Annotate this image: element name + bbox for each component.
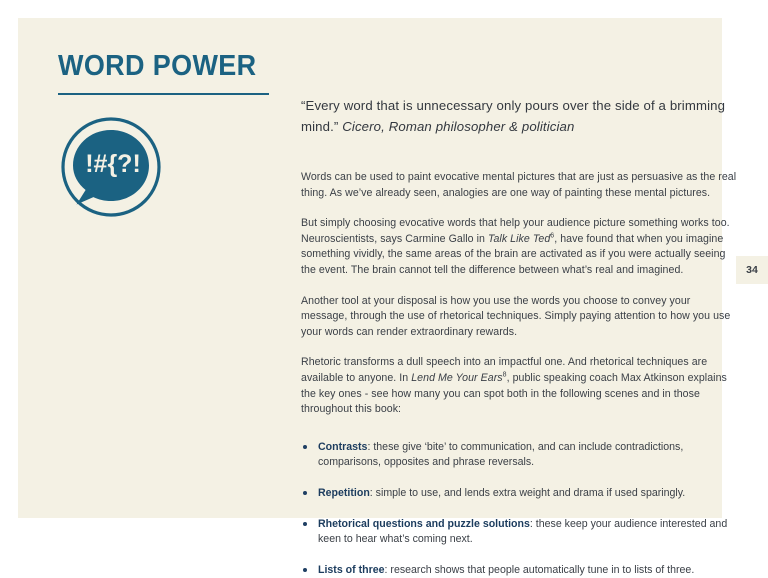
title-divider — [58, 93, 269, 95]
bullet-icon — [303, 568, 307, 572]
pull-quote-attribution: Cicero, Roman philosopher & politician — [342, 119, 574, 134]
bullet-icon — [303, 445, 307, 449]
technique-term: Rhetorical questions and puzzle solution… — [318, 518, 530, 530]
page-sheet: WORD POWER !#{?! “Every word that is unn… — [18, 18, 722, 518]
pull-quote: “Every word that is unnecessary only pou… — [301, 95, 738, 137]
bullet-icon — [303, 491, 307, 495]
technique-description: : simple to use, and lends extra weight … — [370, 487, 685, 499]
body-paragraph-1: Words can be used to paint evocative men… — [301, 170, 738, 201]
technique-term: Repetition — [318, 487, 370, 499]
body-paragraph-4: Rhetoric transforms a dull speech into a… — [301, 355, 738, 417]
chapter-emblem: !#{?! — [60, 116, 162, 218]
bullet-icon — [303, 522, 307, 526]
page-title: WORD POWER — [58, 51, 258, 81]
paragraph-text: Words can be used to paint evocative men… — [301, 171, 736, 199]
body-paragraph-3: Another tool at your disposal is how you… — [301, 294, 738, 341]
technique-term: Lists of three — [318, 564, 385, 576]
list-item: Lists of three: research shows that peop… — [301, 563, 738, 578]
technique-description: : these give ‘bite’ to communication, an… — [318, 441, 683, 469]
list-item: Repetition: simple to use, and lends ext… — [301, 486, 738, 502]
book-title-lend-me-your-ears: Lend Me Your Ears — [411, 372, 502, 384]
page-number-tab: 34 — [736, 256, 768, 284]
list-item: Rhetorical questions and puzzle solution… — [301, 517, 738, 548]
emblem-glyphs: !#{?! — [85, 150, 141, 178]
page-number: 34 — [746, 264, 758, 276]
book-title-talk-like-ted: Talk Like Ted — [488, 233, 550, 245]
technique-list: Contrasts: these give ‘bite’ to communic… — [301, 440, 738, 578]
content-column: “Every word that is unnecessary only pou… — [301, 95, 738, 578]
technique-description: : research shows that people automatical… — [385, 564, 695, 576]
paragraph-text: Another tool at your disposal is how you… — [301, 295, 730, 338]
chapter-heading-block: WORD POWER — [58, 51, 273, 95]
technique-term: Contrasts — [318, 441, 367, 453]
list-item: Contrasts: these give ‘bite’ to communic… — [301, 440, 738, 471]
speech-bubble-icon: !#{?! — [60, 116, 162, 218]
body-paragraph-2: But simply choosing evocative words that… — [301, 216, 738, 278]
